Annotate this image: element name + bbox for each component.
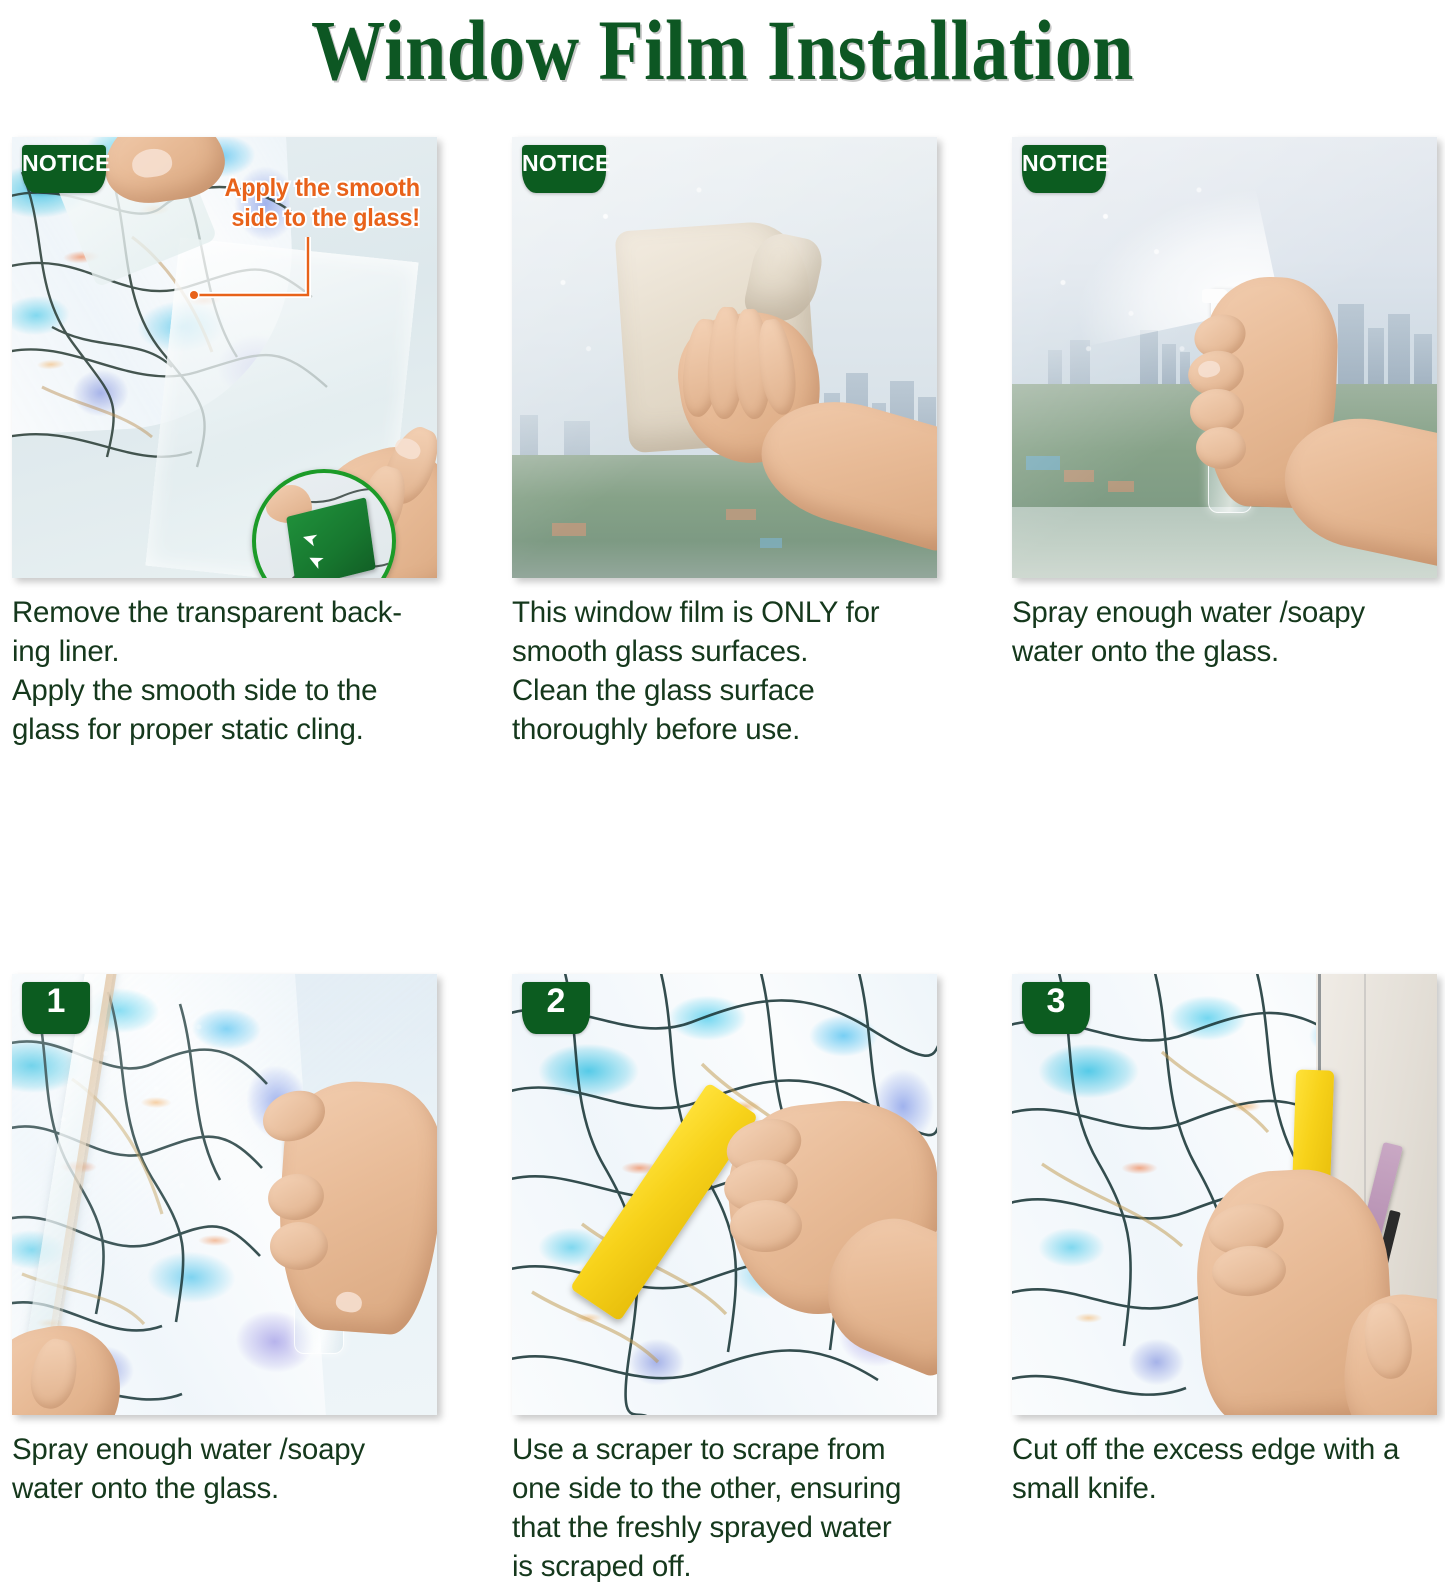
page-title: Window Film Installation [101, 2, 1344, 98]
column-gap-4 [937, 749, 1009, 1586]
notice-badge: NOTICE [522, 145, 606, 193]
apply-smooth-side-callout: Apply the smooth side to the glass! [224, 173, 419, 233]
step-card-6: 3 Cut off the excess edge with a small k… [1012, 974, 1437, 1586]
step-caption-4: Spray enough water /soapy water onto the… [12, 1430, 437, 1508]
step-number-badge: 1 [22, 982, 90, 1034]
step-image-5: 2 [512, 974, 937, 1415]
step-image-4: 1 [12, 974, 437, 1415]
step-caption-3: Spray enough water /soapy water onto the… [1012, 593, 1437, 671]
step-caption-6: Cut off the excess edge with a small kni… [1012, 1430, 1437, 1508]
step-caption-2: This window film is ONLY for smooth glas… [512, 593, 937, 749]
notice-badge: NOTICE [1022, 145, 1106, 193]
step-image-6: 3 [1012, 974, 1437, 1415]
step-card-2: NOTICE This window film is ONLY for smoo… [512, 137, 937, 749]
backing-liner-magnifier-inset: ➤ ➤ [252, 469, 396, 578]
apply-callout-leader-line [184, 235, 314, 309]
notice-badge: NOTICE [22, 145, 106, 193]
step-card-1: NOTICE Apply the smooth side to the glas… [12, 137, 437, 749]
step-card-5: 2 Use a scraper to scrape from one side … [512, 974, 937, 1586]
window-film-installation-infographic: Window Film Installation [0, 0, 1445, 1410]
step-caption-1: Remove the transparent back- ing liner. … [12, 593, 437, 749]
step-number-badge: 3 [1022, 982, 1090, 1034]
step-number-badge: 2 [522, 982, 590, 1034]
step-caption-5: Use a scraper to scrape from one side to… [512, 1430, 937, 1586]
step-image-1: NOTICE Apply the smooth side to the glas… [12, 137, 437, 578]
column-gap-1 [437, 137, 509, 749]
column-gap-2 [937, 137, 1009, 749]
column-gap-3 [437, 749, 509, 1586]
step-image-2: NOTICE [512, 137, 937, 578]
steps-grid: NOTICE Apply the smooth side to the glas… [12, 137, 1437, 1586]
step-card-4: 1 Spray enough water /soapy water onto t… [12, 974, 437, 1586]
step-image-3: NOTICE [1012, 137, 1437, 578]
step-card-3: NOTICE Spray enough water /soapy water o… [1012, 137, 1437, 749]
